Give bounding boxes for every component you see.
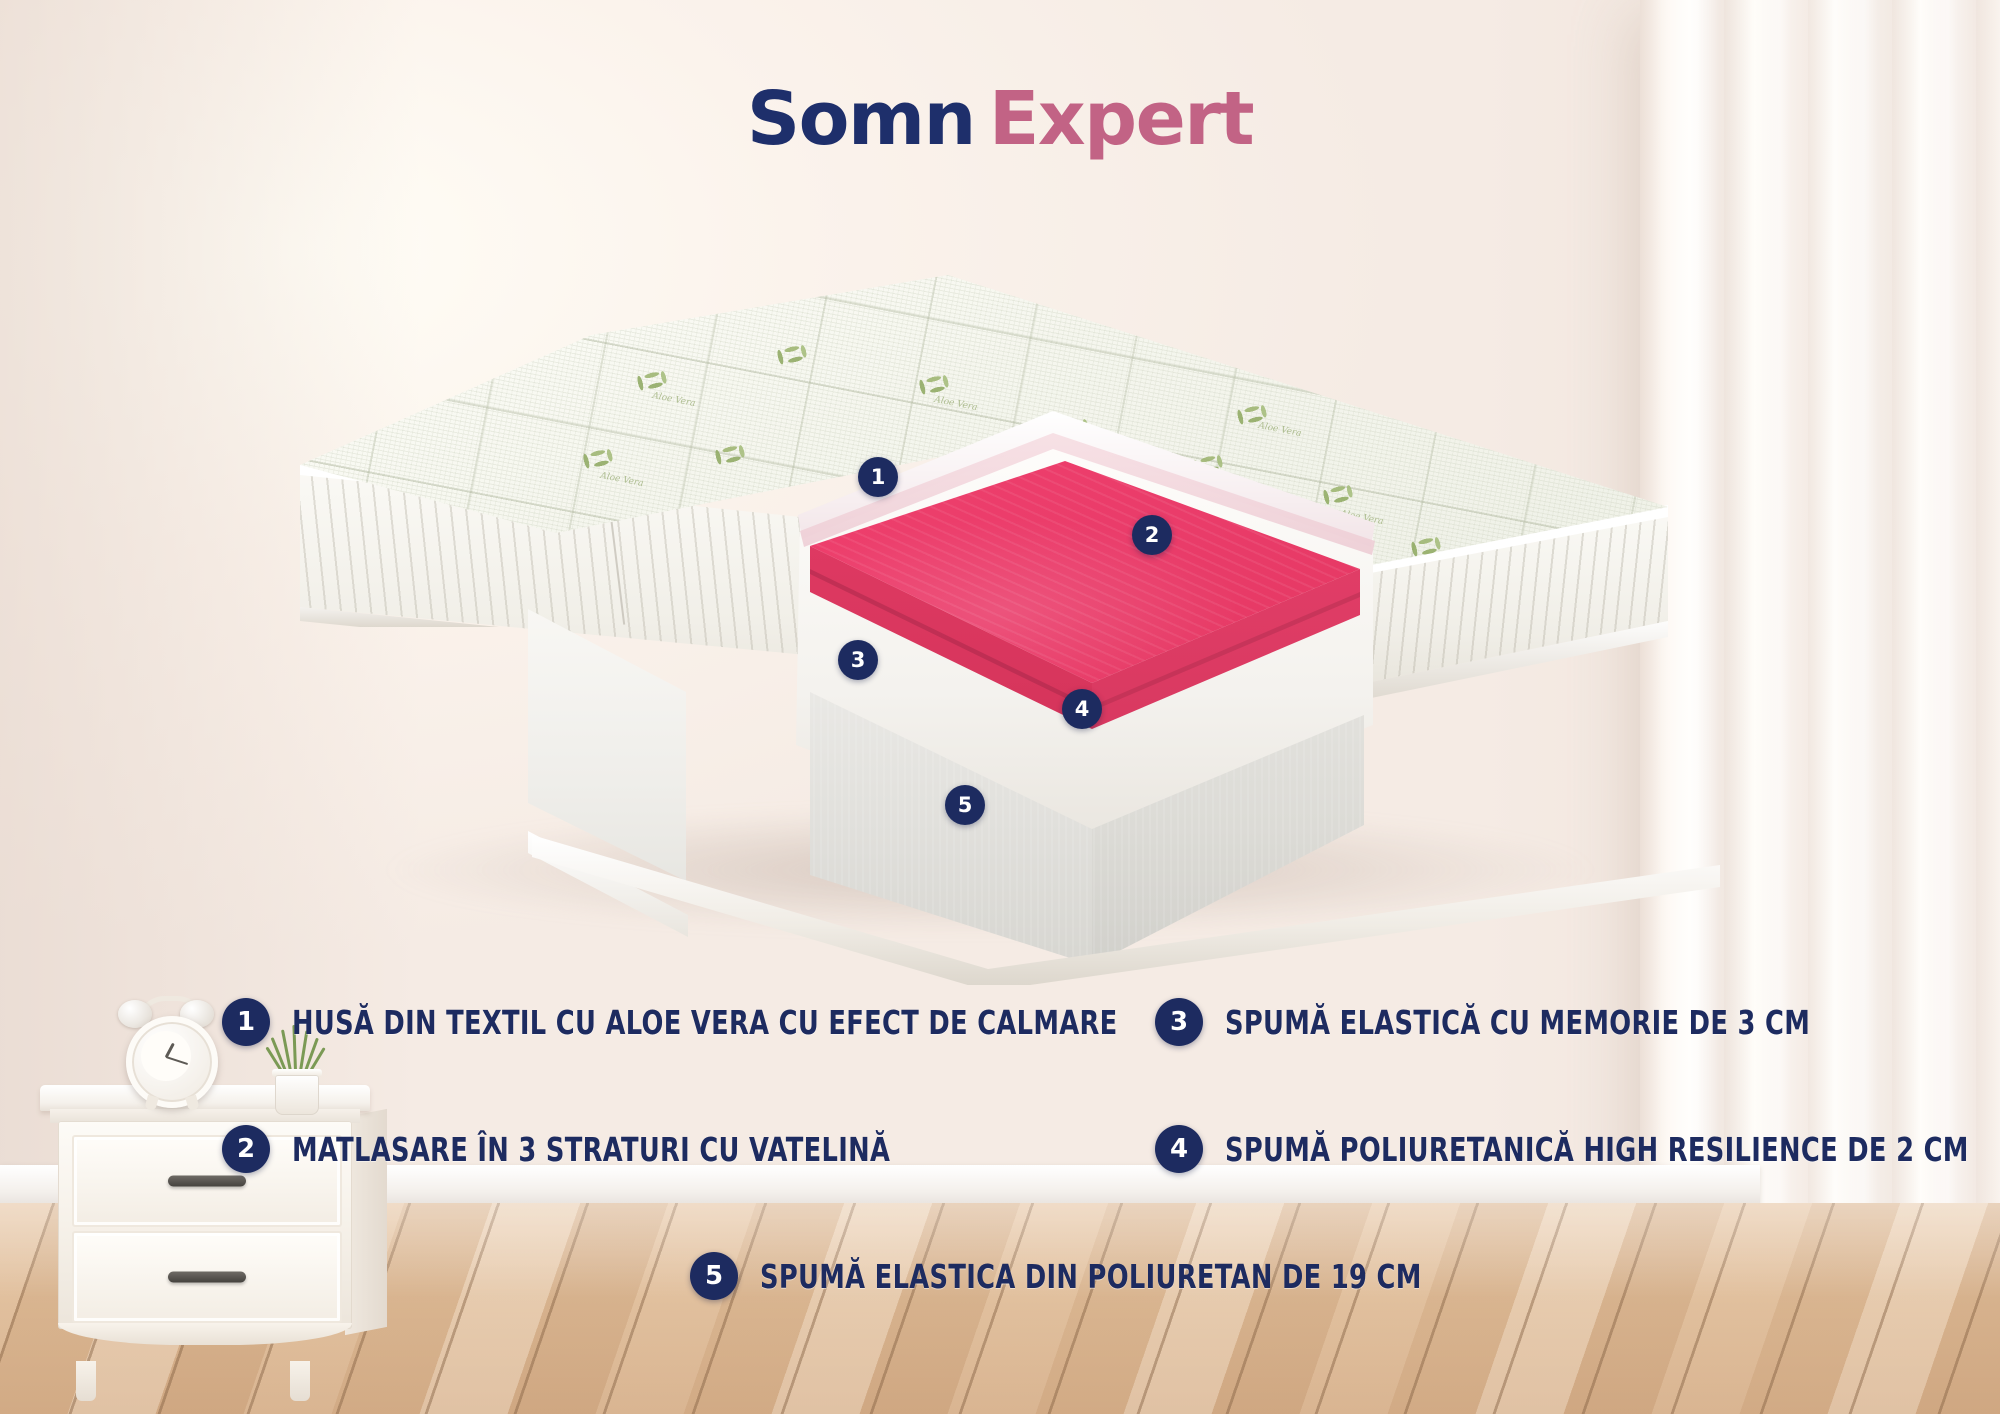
nightstand-drawer-bottom [72,1231,342,1323]
legend-label-1: HUSĂ DIN TEXTIL CU ALOE VERA CU EFECT DE… [292,1003,1118,1042]
legend-badge-5: 5 [690,1252,738,1300]
callout-badge-2[interactable]: 2 [1132,515,1172,555]
legend-badge-3: 3 [1155,998,1203,1046]
drawer-handle-icon [168,1272,246,1283]
legend-badge-1: 1 [222,998,270,1046]
clock-foot [185,1095,199,1111]
alarm-clock-icon [120,1000,212,1112]
brand-logo: SomnExpert [0,82,2000,156]
nightstand-skirt [58,1323,352,1345]
clock-minute-hand [166,1056,188,1065]
callout-badge-4[interactable]: 4 [1062,689,1102,729]
callout-badge-1[interactable]: 1 [858,457,898,497]
potted-plant-icon [268,1035,326,1115]
legend-item-2[interactable]: 2 MATLASARE ÎN 3 STRATURI CU VATELINĂ [222,1125,1059,1173]
legend-item-4[interactable]: 4 SPUMĂ POLIURETANICĂ HIGH RESILIENCE DE… [1155,1125,2000,1173]
legend-label-2: MATLASARE ÎN 3 STRATURI CU VATELINĂ [292,1130,890,1169]
clock-foot [144,1095,158,1111]
legend-label-4: SPUMĂ POLIURETANICĂ HIGH RESILIENCE DE 2… [1225,1130,1969,1169]
legend-item-3[interactable]: 3 SPUMĂ ELASTICĂ CU MEMORIE DE 3 CM [1155,998,1975,1046]
nightstand-leg [76,1361,96,1401]
nightstand-leg [290,1361,310,1401]
clock-face [126,1016,218,1108]
legend-badge-2: 2 [222,1125,270,1173]
brand-name-primary: Somn [747,76,975,162]
legend-badge-4: 4 [1155,1125,1203,1173]
legend-label-5: SPUMĂ ELASTICA DIN POLIURETAN DE 19 CM [760,1257,1422,1296]
clock-dial [141,1031,191,1081]
legend-item-5[interactable]: 5 SPUMĂ ELASTICA DIN POLIURETAN DE 19 CM [690,1252,1608,1300]
drawer-handle-icon [168,1176,246,1187]
brand-name-secondary: Expert [989,76,1253,162]
plant-pot [275,1075,319,1115]
callout-badge-5[interactable]: 5 [945,785,985,825]
callout-badge-3[interactable]: 3 [838,640,878,680]
mattress-product: Aloe Vera Aloe Vera Aloe Vera Aloe Vera … [300,275,1720,925]
legend-label-3: SPUMĂ ELASTICĂ CU MEMORIE DE 3 CM [1225,1003,1810,1042]
infographic-canvas: SomnExpert [0,0,2000,1414]
